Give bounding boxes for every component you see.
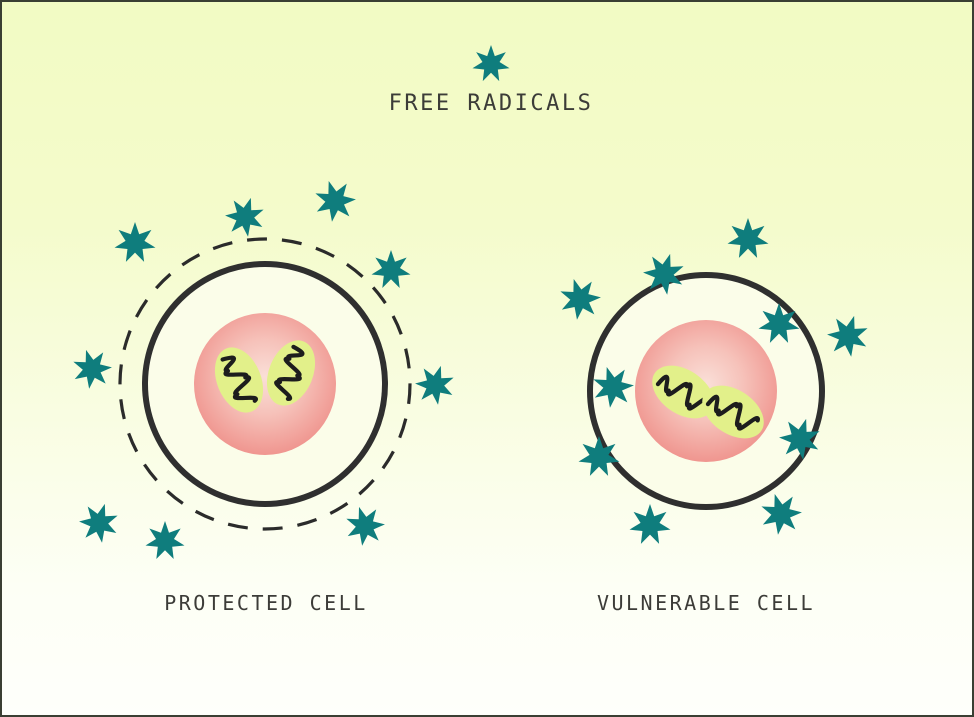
cells-layer: PROTECTED CELLVULNERABLE CELL	[73, 181, 867, 615]
free-radical-star-icon	[346, 507, 385, 546]
free-radical-star-icon	[315, 181, 356, 222]
free-radical-star-icon	[73, 350, 112, 389]
free-radical-star-icon	[146, 521, 185, 559]
free-radical-star-icon	[560, 279, 601, 320]
legend-group: FREE RADICALS	[389, 45, 594, 116]
free-radical-star-icon	[728, 218, 769, 258]
figure-canvas: FREE RADICALS PROTECTED CELLVULNERABLE C…	[0, 0, 974, 717]
free-radical-star-icon	[827, 316, 867, 357]
free-radical-star-icon	[630, 504, 671, 544]
cell-label-protected: PROTECTED CELL	[164, 591, 368, 615]
nucleus-protected	[194, 313, 336, 455]
free-radical-star-icon	[372, 250, 411, 288]
star-icon	[472, 45, 509, 81]
free-radical-star-icon	[225, 198, 264, 237]
free-radical-star-icon	[761, 494, 802, 535]
cell-vulnerable: VULNERABLE CELL	[560, 218, 867, 615]
free-radical-star-icon	[415, 366, 454, 405]
cell-diagram-svg: FREE RADICALS PROTECTED CELLVULNERABLE C…	[2, 2, 974, 717]
free-radical-star-icon	[115, 222, 156, 262]
free-radical-star-icon	[79, 504, 118, 543]
cell-label-vulnerable: VULNERABLE CELL	[597, 591, 815, 615]
cell-protected: PROTECTED CELL	[73, 181, 453, 615]
legend-title: FREE RADICALS	[389, 91, 594, 116]
